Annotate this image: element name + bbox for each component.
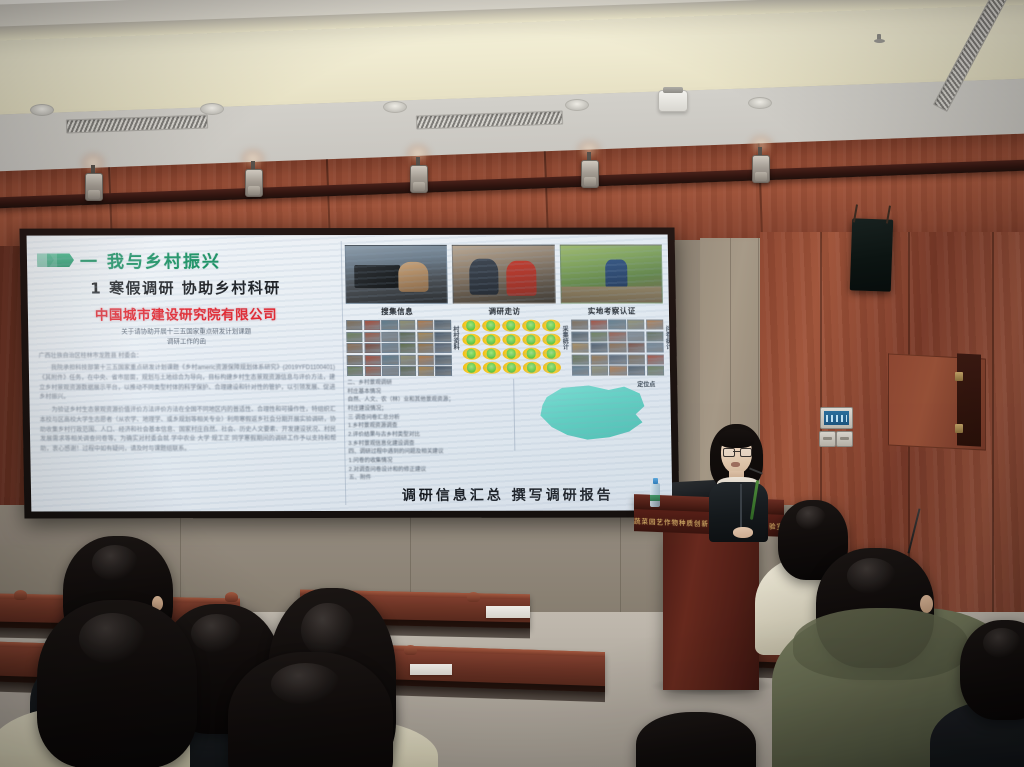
letter-body: 广西壮族自治区桂林市龙胜县 村委会： 我院承担科技部第十三五国家重点研发计划课题…: [39, 352, 337, 456]
presenter-glasses: [723, 448, 750, 455]
thumbnail-cell: [365, 366, 381, 376]
podium-body: [663, 532, 759, 690]
status-dot: [482, 362, 500, 374]
light-switch[interactable]: [836, 431, 853, 447]
thumbnail-cell: [347, 354, 363, 364]
left-thumbnail-grid: 村村资料: [346, 320, 451, 376]
water-bottle: [650, 483, 660, 507]
thumbnail-cell: [347, 366, 363, 376]
thumbnail-cell: [590, 343, 607, 353]
letter-paragraph-2: 为验证乡村生态景观资源价值评价方法评价方法在全国不同地区内的普适性、合理性和可操…: [40, 406, 337, 455]
photo-strip: [345, 244, 663, 304]
thumbnail-cell: [381, 320, 397, 330]
thumbnail-cell: [435, 331, 451, 341]
thumbnail-cell: [347, 343, 363, 353]
thumbnail-cell: [400, 354, 416, 364]
status-dot: [482, 320, 500, 332]
status-dot: [543, 362, 561, 374]
grid-mid-label: 采集统计: [560, 326, 569, 350]
status-dot: [502, 320, 520, 332]
status-dot: [482, 348, 500, 360]
thumbnail-cell: [571, 343, 588, 353]
region-map: 定位点: [513, 378, 665, 450]
status-dot: [502, 362, 520, 374]
thumbnail-cell: [627, 331, 644, 341]
thumbnail-cell: [590, 320, 607, 330]
audience-head: [37, 600, 197, 767]
bench-knob: [467, 592, 480, 602]
outline-line: 2.对调查问卷设计和的修正建议: [349, 465, 511, 474]
thumbnail-cell: [627, 319, 644, 329]
letter-title-line-2: 调研工作的函: [38, 337, 334, 347]
outline-and-map: 二、乡村景观调研村庄基本情况自然、人文、农（林）业和其他景观资源；村庄建设情况；…: [347, 378, 666, 482]
outline-line: 村庄建设情况；: [348, 405, 510, 414]
status-dot: [462, 320, 480, 332]
audience-head: [228, 652, 393, 767]
thumbnail-cell: [571, 320, 588, 330]
downlight-icon: [30, 104, 54, 116]
status-dot: [522, 348, 540, 360]
audience-ear: [920, 595, 933, 613]
thumbnail-cell: [435, 366, 451, 376]
track-spotlight[interactable]: [750, 147, 770, 187]
thumbnail-cell: [382, 366, 398, 376]
handout-paper: [486, 606, 530, 618]
thumbnail-cell: [434, 320, 450, 330]
status-dot: [502, 334, 520, 346]
thumbnail-cell: [646, 319, 663, 329]
handout-paper: [410, 664, 452, 675]
sprinkler-icon: [874, 34, 885, 45]
status-dot: [522, 334, 540, 346]
outline-line: 1.乡村景观资源调查: [348, 422, 510, 431]
photo-caption: 调研走访: [453, 306, 556, 317]
letter-salutation: 广西壮族自治区桂林市龙胜县 村委会：: [39, 352, 335, 362]
jacket-hood: [793, 608, 968, 680]
smoke-detector-icon: [658, 90, 688, 112]
status-dot: [542, 348, 560, 360]
chevron-marker-icon: [37, 253, 73, 267]
thumbnail-cell: [609, 331, 626, 341]
status-dot: [482, 334, 500, 346]
thumbnail-cell: [399, 331, 415, 341]
thumbnail-cell: [571, 331, 588, 341]
presenter-fringe: [718, 429, 755, 448]
thumbnail-cell: [382, 343, 398, 353]
thumbnail-cell: [417, 343, 433, 353]
outline-line: 3.乡村景观信息化建设调查: [348, 439, 510, 448]
downlight-icon: [200, 103, 224, 115]
status-dot: [462, 348, 480, 360]
outline-line: 2.评价结果与古乡村类型对比: [348, 431, 510, 440]
map-region-shape: [535, 384, 647, 442]
slide-subheading: 1 寒假调研 协助乡村科研: [37, 277, 333, 299]
grid-right-label: 问卷统计: [663, 325, 672, 349]
thumbnail-cell: [590, 331, 607, 341]
photo-caption: 搜集信息: [346, 306, 449, 317]
status-dot: [522, 320, 540, 332]
thumbnail-cell: [609, 354, 626, 364]
presenter-hands: [733, 527, 753, 538]
presentation-slide: 一 我与乡村振兴 1 寒假调研 协助乡村科研 中国城市建设研究院有限公司 关于请…: [27, 234, 673, 511]
thumbnail-cell: [346, 320, 362, 330]
outline-line: 四、调研过程中遇到的问题及相关建议: [348, 448, 510, 457]
thumbnail-cell: [435, 354, 451, 364]
thumbnail-cell: [364, 331, 380, 341]
thumbnail-cell: [435, 343, 451, 353]
thumbnail-cell: [590, 366, 607, 376]
slide-bottom-caption: 调研信息汇总 撰写调研报告: [349, 484, 666, 505]
thumbnail-cell: [628, 354, 645, 364]
thumbnail-cell: [346, 331, 362, 341]
field-interview-photo: [452, 245, 555, 304]
thumbnail-cell: [364, 354, 380, 364]
thumbnail-cell: [646, 331, 663, 341]
thumbnail-cell: [400, 343, 416, 353]
thumbnail-cell: [608, 320, 625, 330]
letter-title: 关于请协助开展十三五国家重点研发计划课题 调研工作的函: [38, 327, 334, 347]
bench-knob: [14, 590, 27, 600]
letter-title-line-1: 关于请协助开展十三五国家重点研发计划课题: [38, 327, 334, 337]
status-dot: [462, 334, 480, 346]
outline-line: 二、乡村景观调研: [347, 379, 509, 388]
photo-captions: 搜集信息 调研走访 实地考察认证: [346, 305, 663, 317]
status-dot: [542, 334, 560, 346]
hinge-icon: [955, 424, 963, 433]
slide-right-column: 搜集信息 调研走访 实地考察认证 村村资料 采集统计: [341, 234, 673, 511]
thumbnail-cell: [590, 354, 607, 364]
status-dot: [523, 362, 541, 374]
wall-speaker: [850, 218, 893, 291]
slide-section-heading: 一 我与乡村振兴: [80, 247, 221, 272]
track-spotlight[interactable]: [579, 152, 599, 192]
field-survey-photo: [559, 244, 662, 303]
outline-line: 自然、人文、农（林）业和其他景观资源；: [347, 396, 509, 405]
presenter-zipper: [740, 484, 742, 532]
middle-dot-grid: 采集统计: [462, 320, 561, 374]
thumbnail-cell: [628, 342, 645, 352]
thumbnail-cell: [382, 354, 398, 364]
thumbnail-cell: [609, 366, 626, 376]
map-label: 定位点: [637, 380, 655, 389]
status-dot: [462, 362, 480, 374]
slide-section-heading-row: 一 我与乡村振兴: [37, 247, 334, 273]
letter-paragraph-1: 我院承担科技部第十三五国家重点研发计划课题《乡村americ资源保障规划体系研究…: [39, 364, 336, 403]
av-control-panel[interactable]: [820, 407, 853, 429]
slide-org-name: 中国城市建设研究院有限公司: [38, 303, 334, 324]
light-switch[interactable]: [819, 431, 836, 447]
thumbnail-cell: [417, 320, 433, 330]
status-dot: [542, 320, 560, 332]
bench-knob: [225, 592, 238, 602]
presenter-mouth: [731, 462, 740, 467]
thumbnail-cell: [418, 366, 434, 376]
thumbnail-cell: [572, 354, 589, 364]
track-spotlight[interactable]: [243, 161, 263, 201]
thumbnail-cell: [647, 365, 664, 375]
thumbnail-cell: [399, 320, 415, 330]
thumbnail-cell: [646, 342, 663, 352]
status-dot: [502, 348, 520, 360]
thumbnail-cell: [364, 343, 380, 353]
thumbnail-cell: [382, 331, 398, 341]
thumbnail-cell: [646, 354, 663, 364]
track-spotlight[interactable]: [408, 157, 428, 197]
slide-left-column: 一 我与乡村振兴 1 寒假调研 协助乡村科研 中国城市建设研究院有限公司 关于请…: [27, 235, 346, 512]
right-thumbnail-grid: 问卷统计: [571, 319, 664, 375]
downlight-icon: [748, 97, 772, 109]
thumbnail-cell: [364, 320, 380, 330]
thumbnail-cell: [572, 366, 589, 376]
thumbnail-cell: [417, 354, 433, 364]
outline-line: 1.问卷的收集情况: [349, 457, 511, 466]
icon-grids: 村村资料 采集统计 问卷统计: [346, 319, 664, 376]
track-spotlight[interactable]: [83, 165, 103, 205]
outline-line: 五、附件: [349, 474, 511, 483]
thumbnail-cell: [628, 365, 645, 375]
desk-work-photo: [345, 245, 448, 304]
grid-left-label: 村村资料: [451, 326, 460, 350]
report-outline: 二、乡村景观调研村庄基本情况自然、人文、农（林）业和其他景观资源；村庄建设情况；…: [347, 379, 511, 483]
audience-head: [636, 712, 756, 767]
thumbnail-cell: [417, 331, 433, 341]
outline-line: 村庄基本情况: [347, 387, 509, 396]
projection-screen[interactable]: 一 我与乡村振兴 1 寒假调研 协助乡村科研 中国城市建设研究院有限公司 关于请…: [27, 234, 673, 511]
downlight-icon: [383, 101, 407, 113]
audience-head: [960, 620, 1024, 720]
bench-knob: [404, 645, 417, 655]
hinge-icon: [955, 372, 963, 381]
thumbnail-cell: [609, 343, 626, 353]
lecture-hall-photo: 一 我与乡村振兴 1 寒假调研 协助乡村科研 中国城市建设研究院有限公司 关于请…: [0, 0, 1024, 767]
projection-screen-frame: 一 我与乡村振兴 1 寒假调研 协助乡村科研 中国城市建设研究院有限公司 关于请…: [19, 227, 679, 518]
thumbnail-cell: [400, 366, 416, 376]
photo-caption: 实地考察认证: [561, 305, 664, 316]
outline-line: 三 调查问卷汇总分析: [348, 413, 510, 422]
downlight-icon: [565, 99, 589, 111]
